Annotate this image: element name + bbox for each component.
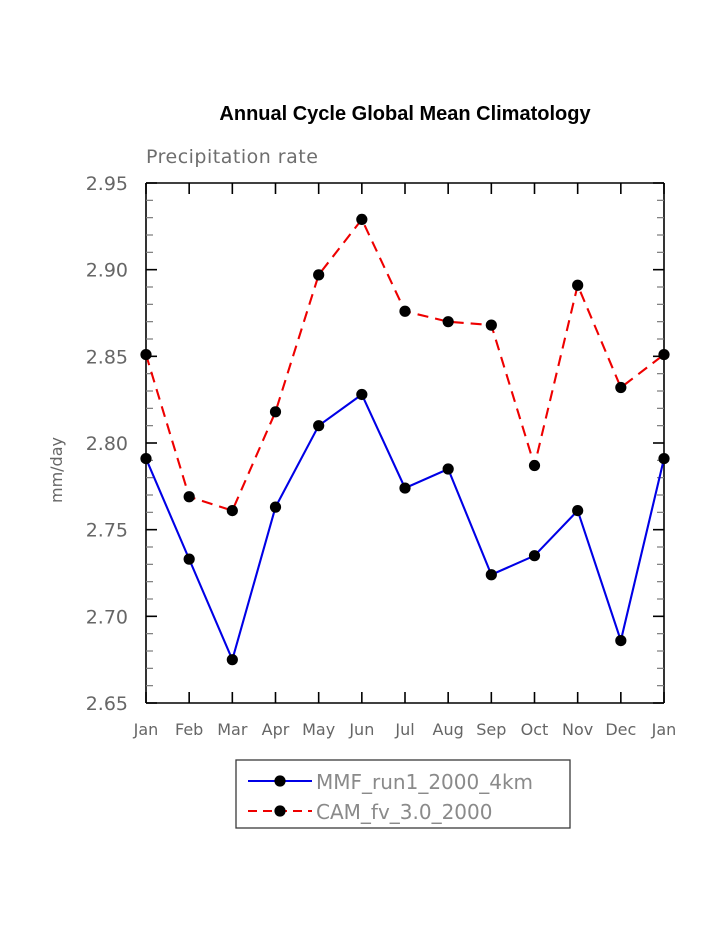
data-point-marker bbox=[270, 406, 281, 417]
x-tick-label: Mar bbox=[217, 720, 248, 739]
precipitation-annual-cycle-chart: Annual Cycle Global Mean Climatology Pre… bbox=[0, 0, 723, 935]
y-axis-title: mm/day bbox=[47, 437, 66, 503]
data-point-marker bbox=[270, 502, 281, 513]
data-point-marker bbox=[227, 505, 238, 516]
data-point-marker bbox=[443, 316, 454, 327]
x-tick-label: Feb bbox=[175, 720, 203, 739]
data-point-marker bbox=[658, 453, 669, 464]
legend-marker bbox=[274, 775, 285, 786]
legend-marker bbox=[274, 805, 285, 816]
data-point-marker bbox=[140, 349, 151, 360]
data-point-marker bbox=[313, 420, 324, 431]
data-point-marker bbox=[140, 453, 151, 464]
x-tick-label: Nov bbox=[562, 720, 593, 739]
chart-subtitle: Precipitation rate bbox=[146, 146, 318, 168]
x-tick-label: Jul bbox=[394, 720, 414, 739]
x-tick-label: Apr bbox=[262, 720, 290, 739]
legend-label: CAM_fv_3.0_2000 bbox=[316, 800, 492, 824]
x-tick-label: Oct bbox=[521, 720, 549, 739]
x-tick-label: Jan bbox=[651, 720, 677, 739]
data-point-marker bbox=[227, 654, 238, 665]
y-tick-label: 2.85 bbox=[86, 346, 128, 368]
data-point-marker bbox=[572, 280, 583, 291]
data-point-marker bbox=[356, 389, 367, 400]
y-tick-label: 2.95 bbox=[86, 173, 128, 195]
data-point-marker bbox=[572, 505, 583, 516]
legend-label: MMF_run1_2000_4km bbox=[316, 770, 533, 794]
x-tick-label: May bbox=[302, 720, 335, 739]
data-point-marker bbox=[529, 550, 540, 561]
data-point-marker bbox=[399, 306, 410, 317]
x-tick-label: Sep bbox=[476, 720, 506, 739]
data-point-marker bbox=[658, 349, 669, 360]
data-point-marker bbox=[529, 460, 540, 471]
y-tick-label: 2.90 bbox=[86, 260, 128, 282]
y-tick-label: 2.75 bbox=[86, 520, 128, 542]
x-tick-label: Jan bbox=[133, 720, 159, 739]
x-tick-label: Dec bbox=[605, 720, 636, 739]
data-point-marker bbox=[184, 491, 195, 502]
data-point-marker bbox=[443, 463, 454, 474]
data-point-marker bbox=[486, 569, 497, 580]
y-tick-label: 2.80 bbox=[86, 433, 128, 455]
y-tick-label: 2.65 bbox=[86, 693, 128, 715]
chart-title: Annual Cycle Global Mean Climatology bbox=[219, 103, 591, 125]
data-point-marker bbox=[399, 482, 410, 493]
y-tick-label: 2.70 bbox=[86, 606, 128, 628]
data-point-marker bbox=[615, 382, 626, 393]
x-tick-label: Aug bbox=[433, 720, 464, 739]
data-point-marker bbox=[184, 554, 195, 565]
data-point-marker bbox=[356, 214, 367, 225]
data-point-marker bbox=[486, 320, 497, 331]
data-point-marker bbox=[615, 635, 626, 646]
x-tick-label: Jun bbox=[348, 720, 374, 739]
data-point-marker bbox=[313, 269, 324, 280]
chart-legend: MMF_run1_2000_4kmCAM_fv_3.0_2000 bbox=[236, 760, 570, 828]
